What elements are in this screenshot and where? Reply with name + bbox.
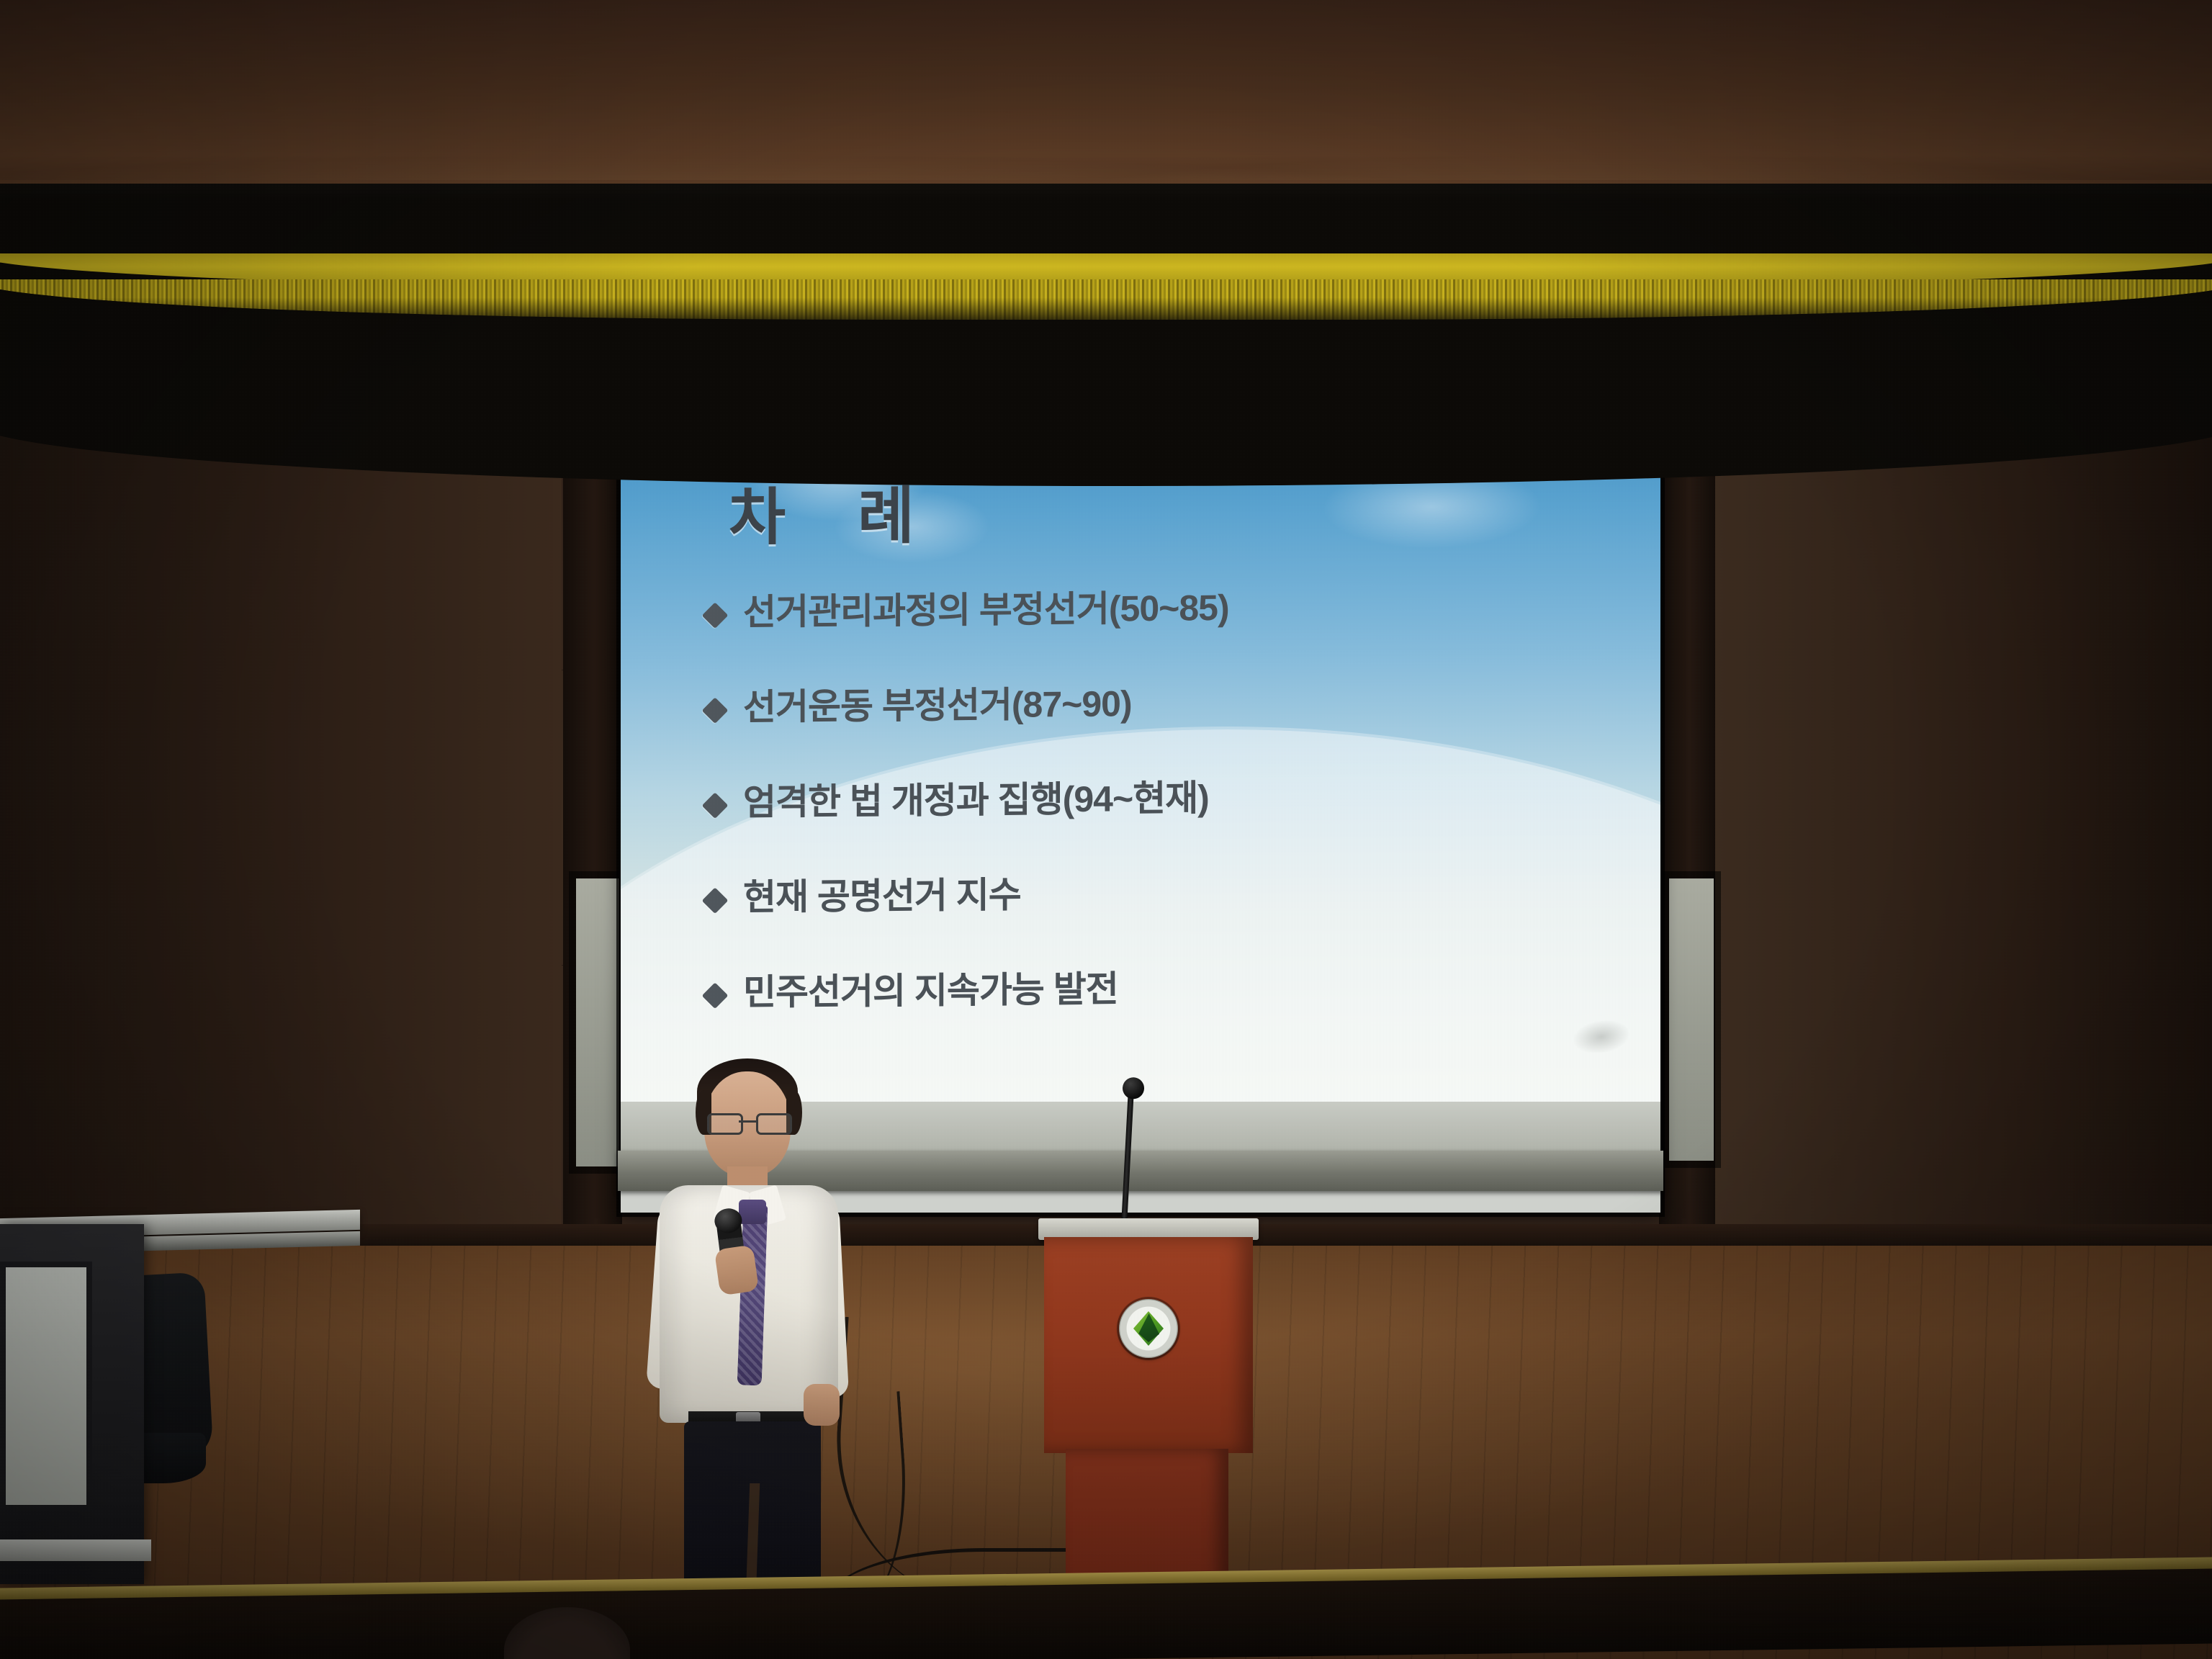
diamond-bullet-icon <box>702 697 729 724</box>
glasses-icon <box>706 1113 791 1132</box>
diamond-bullet-icon <box>702 602 729 629</box>
presenter-hand-holding-mic <box>714 1245 759 1296</box>
av-control-console[interactable] <box>0 1224 144 1584</box>
diamond-bullet-icon <box>702 982 729 1009</box>
list-item: 선거운동 부정선거(87~90) <box>706 670 1617 731</box>
bullet-text: 선거운동 부정선거(87~90) <box>743 675 1132 730</box>
list-item: 선거관리과정의 부정선거(50~85) <box>706 575 1617 636</box>
list-item: 민주선거의 지속가능 발전 <box>706 956 1617 1016</box>
necktie-knot <box>739 1200 766 1224</box>
diamond-bullet-icon <box>702 792 729 819</box>
podium-body <box>1044 1237 1253 1453</box>
bullet-text: 엄격한 법 개정과 집행(94~현재) <box>743 769 1209 825</box>
slide-bullet-list: 선거관리과정의 부정선거(50~85) 선거운동 부정선거(87~90) 엄격한… <box>706 575 1617 1059</box>
bullet-text: 현재 공명선거 지수 <box>743 866 1021 921</box>
acoustic-panel-right <box>1669 878 1714 1161</box>
console-base <box>0 1539 151 1561</box>
presentation-photo-scene: 차 례 선거관리과정의 부정선거(50~85) 선거운동 부정선거(87~90)… <box>0 0 2212 1659</box>
list-item: 현재 공명선거 지수 <box>706 860 1617 921</box>
console-front-panel <box>0 1262 92 1511</box>
presenter <box>648 1051 864 1635</box>
projected-slide: 차 례 선거관리과정의 부정선거(50~85) 선거운동 부정선거(87~90)… <box>621 402 1660 1146</box>
podium-emblem-icon <box>1119 1299 1178 1358</box>
bullet-text: 선거관리과정의 부정선거(50~85) <box>743 579 1229 635</box>
acoustic-panel-left <box>576 878 619 1166</box>
stage-valance <box>0 184 2212 486</box>
list-item: 엄격한 법 개정과 집행(94~현재) <box>706 765 1617 826</box>
bullet-text: 민주선거의 지속가능 발전 <box>743 960 1118 1015</box>
diamond-bullet-icon <box>702 887 729 914</box>
podium[interactable] <box>1044 1218 1253 1629</box>
